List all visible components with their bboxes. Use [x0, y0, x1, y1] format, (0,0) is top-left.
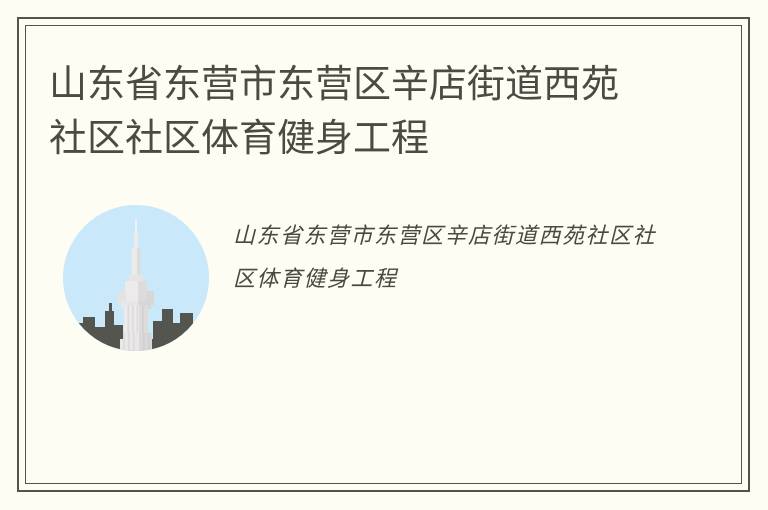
- page-root: 山东省东营市东营区辛店街道西苑社区社区体育健身工程: [0, 0, 768, 510]
- project-caption: 山东省东营市东营区辛店街道西苑社区社区体育健身工程: [233, 215, 673, 301]
- skyscraper-city-illustration: [63, 205, 209, 351]
- skyscraper-city-icon: [63, 205, 209, 351]
- project-card: 山东省东营市东营区辛店街道西苑社区社区体育健身工程: [63, 205, 663, 355]
- page-title: 山东省东营市东营区辛店街道西苑社区社区体育健身工程: [49, 58, 649, 166]
- page-content: 山东省东营市东营区辛店街道西苑社区社区体育健身工程: [0, 0, 768, 510]
